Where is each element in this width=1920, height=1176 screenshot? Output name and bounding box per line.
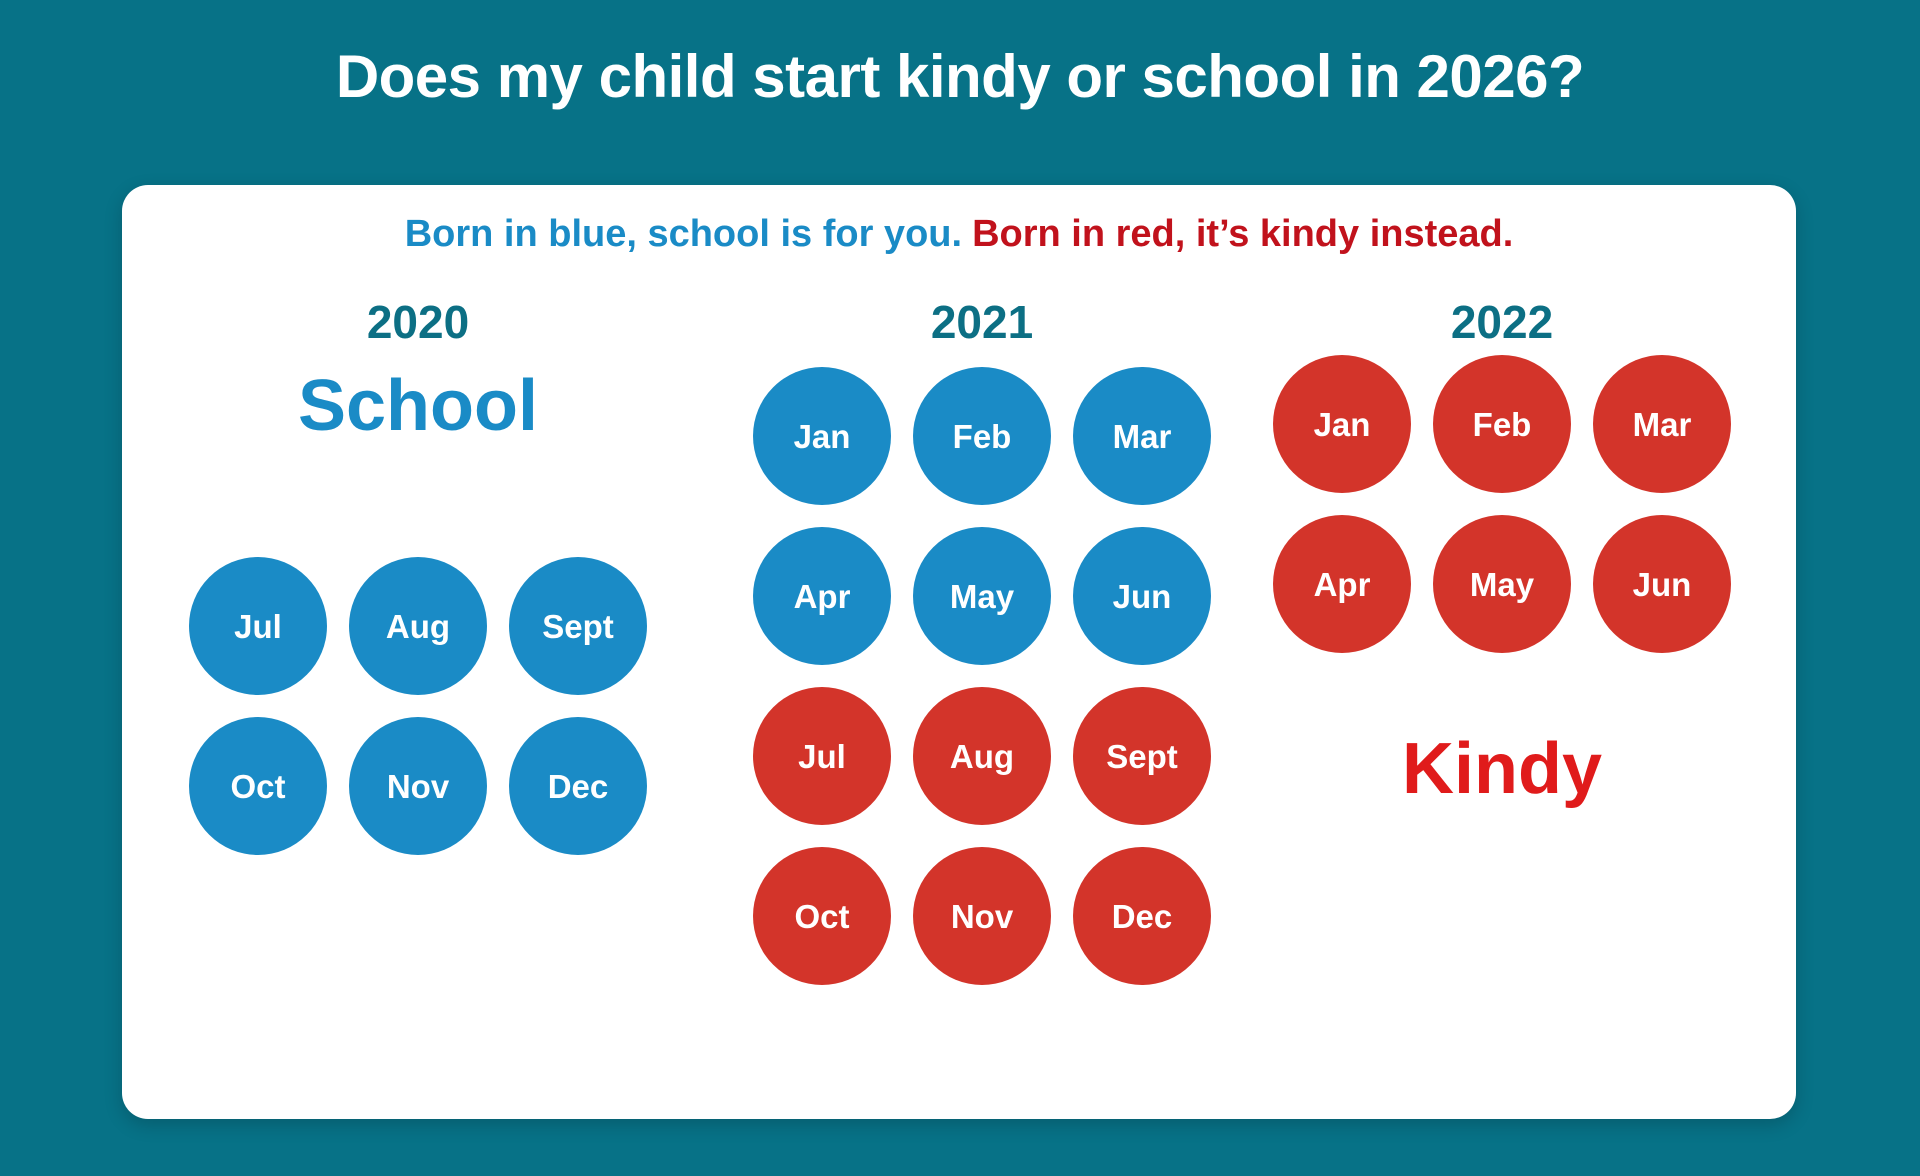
month-circle-oct-2020: Oct (189, 717, 327, 855)
year-column-2020: 2020 School JulAugSeptOctNovDec (158, 295, 678, 1115)
month-label: Sept (542, 610, 614, 643)
month-label: Aug (386, 610, 450, 643)
month-label: Dec (548, 770, 609, 803)
month-circle-mar-2021: Mar (1073, 367, 1211, 505)
month-label: Apr (1314, 568, 1371, 601)
month-circle-may-2022: May (1433, 515, 1571, 653)
year-heading-2020: 2020 (158, 295, 678, 349)
month-circle-sept-2020: Sept (509, 557, 647, 695)
year-columns: 2020 School JulAugSeptOctNovDec 2021 Jan… (122, 295, 1796, 1115)
month-row: JulAugSept (722, 687, 1242, 825)
month-grid-2020: JulAugSeptOctNovDec (158, 557, 678, 877)
month-label: Dec (1112, 900, 1173, 933)
content-card: Born in blue, school is for you.Born in … (122, 185, 1796, 1119)
year-column-2021: 2021 JanFebMarAprMayJunJulAugSeptOctNovD… (722, 295, 1242, 1115)
year-heading-2022: 2022 (1242, 295, 1762, 349)
year-heading-2021: 2021 (722, 295, 1242, 349)
month-circle-apr-2022: Apr (1273, 515, 1411, 653)
legend-red-text: Born in red, it’s kindy instead. (972, 213, 1513, 255)
month-circle-jan-2021: Jan (753, 367, 891, 505)
month-label: Sept (1106, 740, 1178, 773)
month-circle-nov-2021: Nov (913, 847, 1051, 985)
month-row: AprMayJun (1242, 515, 1762, 653)
month-grid-2021: JanFebMarAprMayJunJulAugSeptOctNovDec (722, 367, 1242, 1007)
month-circle-may-2021: May (913, 527, 1051, 665)
month-label: Mar (1113, 420, 1172, 453)
month-label: Feb (1473, 408, 1532, 441)
month-label: Jan (1314, 408, 1371, 441)
month-row: JanFebMar (722, 367, 1242, 505)
month-circle-jun-2021: Jun (1073, 527, 1211, 665)
month-label: Jul (798, 740, 846, 773)
month-row: OctNovDec (158, 717, 678, 855)
page-title: Does my child start kindy or school in 2… (0, 42, 1920, 111)
month-circle-aug-2021: Aug (913, 687, 1051, 825)
month-label: Feb (953, 420, 1012, 453)
legend: Born in blue, school is for you.Born in … (122, 213, 1796, 256)
month-row: OctNovDec (722, 847, 1242, 985)
month-label: Aug (950, 740, 1014, 773)
month-circle-nov-2020: Nov (349, 717, 487, 855)
month-circle-apr-2021: Apr (753, 527, 891, 665)
month-label: Jul (234, 610, 282, 643)
month-label: Jan (794, 420, 851, 453)
month-row: JulAugSept (158, 557, 678, 695)
poster-root: Does my child start kindy or school in 2… (0, 0, 1920, 1176)
month-label: Jun (1633, 568, 1692, 601)
month-circle-feb-2022: Feb (1433, 355, 1571, 493)
month-label: May (950, 580, 1014, 613)
month-circle-jun-2022: Jun (1593, 515, 1731, 653)
month-label: Nov (387, 770, 449, 803)
month-circle-jul-2020: Jul (189, 557, 327, 695)
month-row: JanFebMar (1242, 355, 1762, 493)
month-label: Mar (1633, 408, 1692, 441)
month-label: Apr (794, 580, 851, 613)
month-circle-sept-2021: Sept (1073, 687, 1211, 825)
month-circle-dec-2020: Dec (509, 717, 647, 855)
month-circle-dec-2021: Dec (1073, 847, 1211, 985)
month-circle-oct-2021: Oct (753, 847, 891, 985)
category-label-school: School (158, 370, 678, 442)
month-label: May (1470, 568, 1534, 601)
month-circle-feb-2021: Feb (913, 367, 1051, 505)
month-circle-jan-2022: Jan (1273, 355, 1411, 493)
month-circle-jul-2021: Jul (753, 687, 891, 825)
category-label-kindy: Kindy (1242, 733, 1762, 805)
legend-blue-text: Born in blue, school is for you. (405, 213, 962, 255)
year-column-2022: 2022 JanFebMarAprMayJun Kindy (1242, 295, 1762, 1115)
month-grid-2022: JanFebMarAprMayJun (1242, 355, 1762, 675)
month-label: Nov (951, 900, 1013, 933)
month-circle-aug-2020: Aug (349, 557, 487, 695)
month-circle-mar-2022: Mar (1593, 355, 1731, 493)
month-label: Oct (230, 770, 285, 803)
month-row: AprMayJun (722, 527, 1242, 665)
month-label: Oct (794, 900, 849, 933)
month-label: Jun (1113, 580, 1172, 613)
